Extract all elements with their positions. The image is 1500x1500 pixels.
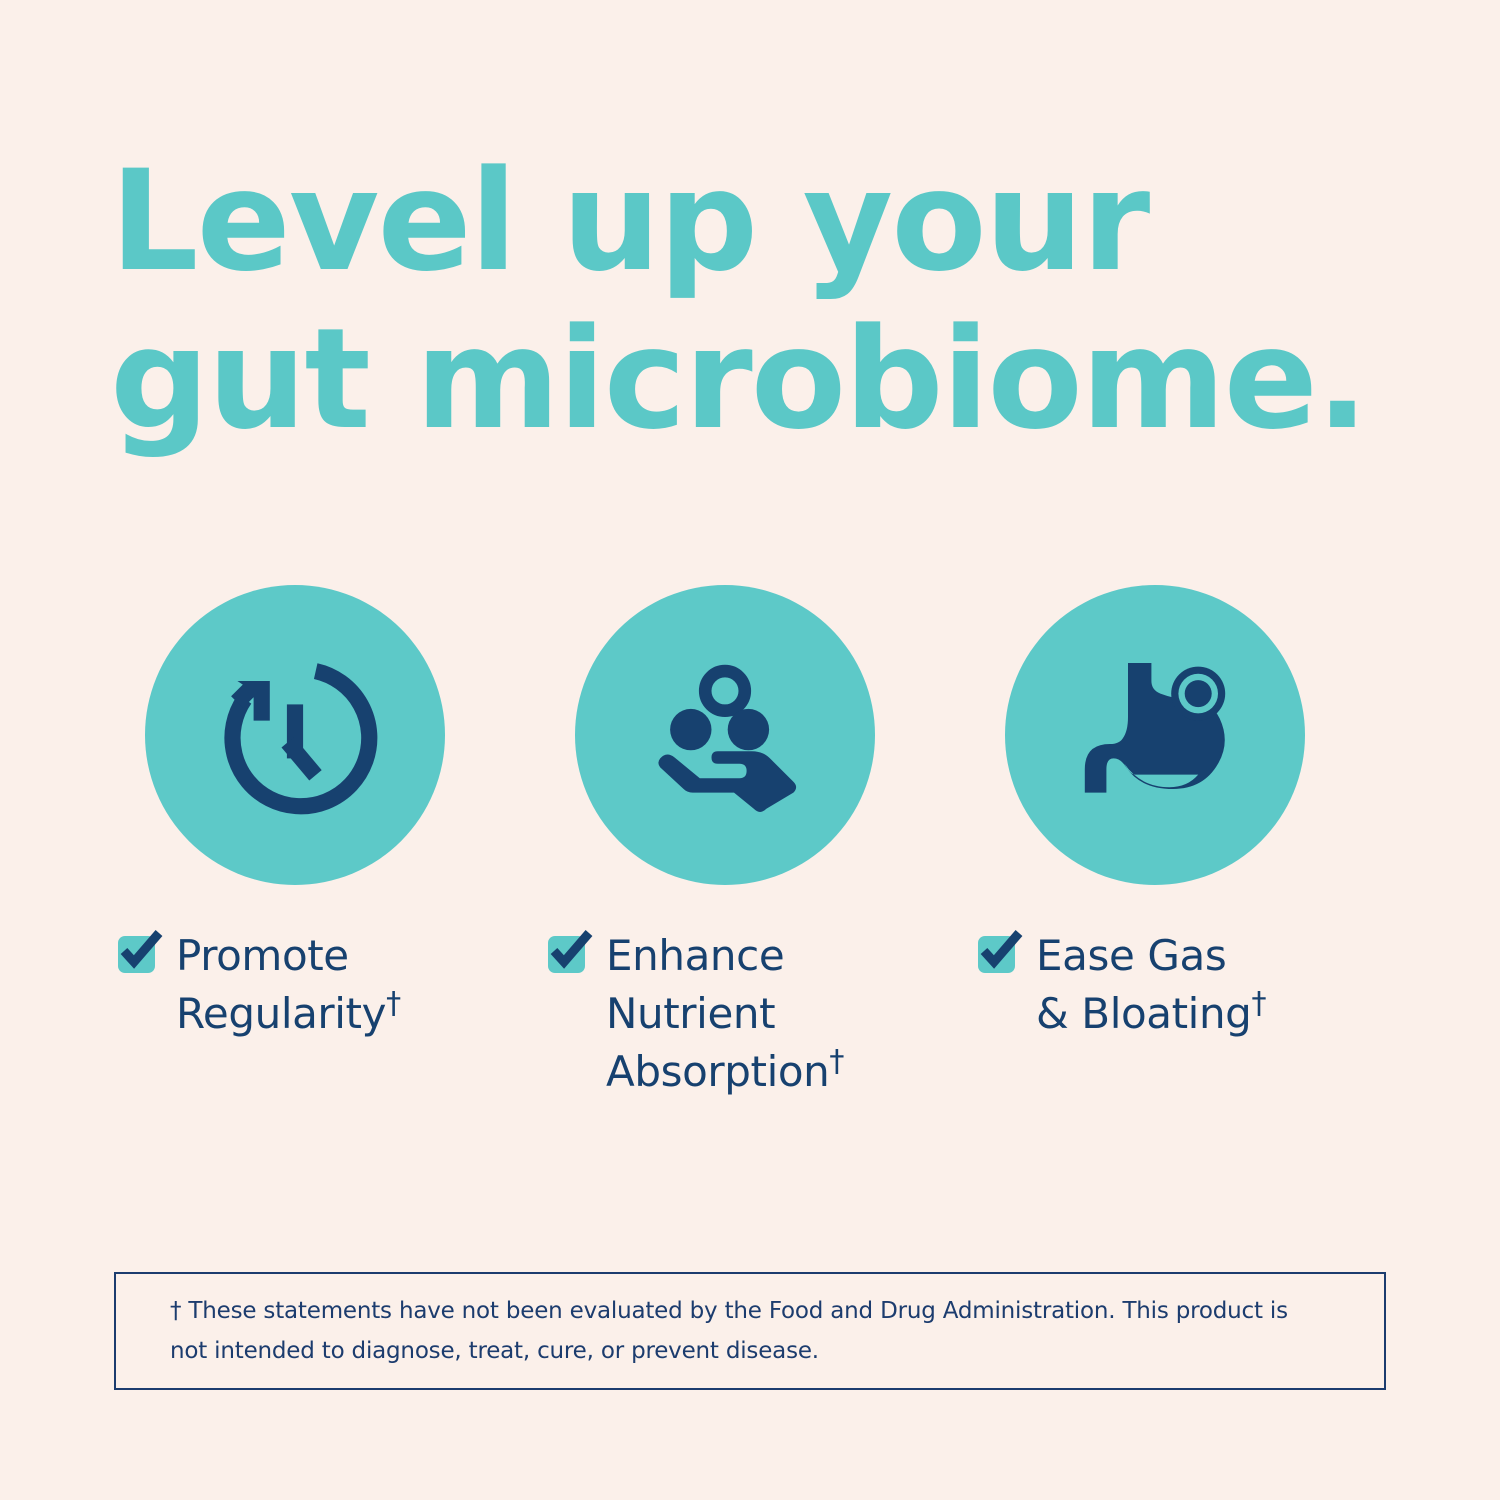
hand-holding-nutrients-icon <box>635 645 815 825</box>
headline-line-1: Level up your <box>110 142 1430 300</box>
icon-badge-hand <box>575 585 875 885</box>
promo-page: Level up your gut microbiome. <box>0 0 1500 1500</box>
feature-enhance-nutrient-absorption: EnhanceNutrientAbsorption† <box>540 585 970 1101</box>
claim-label: Ease Gas& Bloating† <box>1036 927 1266 1043</box>
clock-rotate-icon <box>205 645 385 825</box>
icon-badge-stomach <box>1005 585 1305 885</box>
claim-line-2: & Bloating <box>1036 989 1251 1038</box>
disclaimer-box: † These statements have not been evaluat… <box>114 1272 1386 1390</box>
disclaimer-text: † These statements have not been evaluat… <box>116 1291 1384 1371</box>
claim-promote-regularity: PromoteRegularity† <box>110 927 540 1043</box>
claim-line-1: Ease Gas <box>1036 931 1226 980</box>
claim-ease-gas-bloating: Ease Gas& Bloating† <box>970 927 1400 1043</box>
page-title: Level up your gut microbiome. <box>110 142 1430 458</box>
checkbox-checked[interactable] <box>118 936 155 973</box>
claim-line-1: Enhance <box>606 931 784 980</box>
dagger-mark: † <box>829 1044 844 1079</box>
headline-line-2: gut microbiome. <box>110 300 1430 458</box>
checkbox-checked[interactable] <box>548 936 585 973</box>
checkmark-icon <box>547 929 592 974</box>
claim-line-1: Promote <box>176 931 349 980</box>
checkmark-icon <box>117 929 162 974</box>
feature-promote-regularity: PromoteRegularity† <box>110 585 540 1101</box>
dagger-mark: † <box>1251 986 1266 1021</box>
claim-enhance-nutrient-absorption: EnhanceNutrientAbsorption† <box>540 927 970 1101</box>
stomach-target-icon <box>1065 645 1245 825</box>
claim-label: PromoteRegularity† <box>176 927 401 1043</box>
checkmark-icon <box>977 929 1022 974</box>
feature-list: PromoteRegularity† <box>110 585 1400 1101</box>
claim-line-2: Regularity <box>176 989 386 1038</box>
checkbox-checked[interactable] <box>978 936 1015 973</box>
feature-ease-gas-bloating: Ease Gas& Bloating† <box>970 585 1400 1101</box>
icon-badge-clock <box>145 585 445 885</box>
dagger-mark: † <box>386 986 401 1021</box>
claim-label: EnhanceNutrientAbsorption† <box>606 927 844 1101</box>
claim-line-2: Nutrient <box>606 989 775 1038</box>
claim-line-3: Absorption <box>606 1047 829 1096</box>
